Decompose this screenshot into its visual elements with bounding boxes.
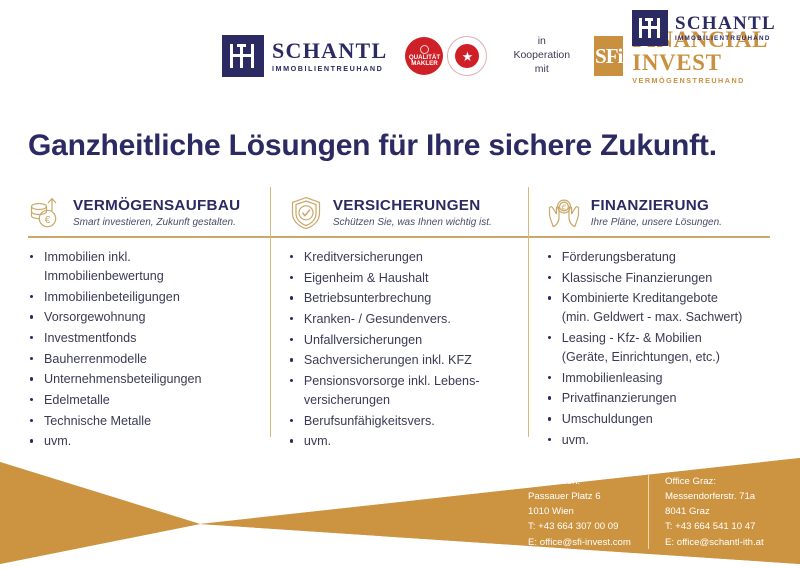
cooperation-line-3: mit xyxy=(513,63,570,77)
ith-monogram-icon xyxy=(222,35,264,77)
office-street: Passauer Platz 6 xyxy=(528,489,648,504)
list-item-text: Privatfinanzierungen xyxy=(562,391,677,405)
list-item-text: Berufsunfähigkeitsvers. xyxy=(304,414,435,428)
list-item-text: Klassische Finanzierungen xyxy=(562,271,713,285)
list-item: Förderungsberatung xyxy=(546,248,772,267)
service-columns: € VERMÖGENSAUFBAU Smart investieren, Zuk… xyxy=(28,190,772,236)
list-item: Kranken- / Gesundenvers. xyxy=(288,310,528,329)
office-city: 1010 Wien xyxy=(528,504,648,519)
list-item: Kreditversicherungen xyxy=(288,248,528,267)
column-finanzierung: € FINANZIERUNG Ihre Pläne, unsere Lösung… xyxy=(528,190,772,236)
cooperation-note: in Kooperation mit xyxy=(513,35,570,77)
list-item: Privatfinanzierungen xyxy=(546,389,772,408)
column-divider xyxy=(528,187,529,437)
office-phone[interactable]: T: +43 664 307 00 09 xyxy=(528,519,648,534)
list-item: Eigenheim & Haushalt xyxy=(288,269,528,288)
list-item-continuation: (Geräte, Einrichtungen, etc.) xyxy=(562,348,772,367)
list-item-text: Immobilienleasing xyxy=(562,371,663,385)
svg-text:€: € xyxy=(45,214,51,226)
list-item-text: Betriebsunterbrechung xyxy=(304,291,431,305)
list-item: Leasing - Kfz- & Mobilien(Geräte, Einric… xyxy=(546,329,772,367)
list-item: Investmentfonds xyxy=(28,329,270,348)
list-item-text: Bauherrenmodelle xyxy=(44,352,147,366)
office-name: Office Graz: xyxy=(665,474,785,489)
office-email[interactable]: E: office@schantl-ith.at xyxy=(665,535,785,550)
list-item: Umschuldungen xyxy=(546,410,772,429)
list-item-text: Kombinierte Kreditangebote xyxy=(562,291,718,305)
shield-check-icon xyxy=(288,195,324,231)
service-list-finanzierung: Förderungsberatung Klassische Finanzieru… xyxy=(546,248,772,451)
list-item-text: Technische Metalle xyxy=(44,414,151,428)
service-list-versicherungen: Kreditversicherungen Eigenheim & Haushal… xyxy=(288,248,528,453)
schantl-wordmark: SCHANTL xyxy=(272,40,387,62)
list-item: Unfallversicherungen xyxy=(288,331,528,350)
schantl-ith-logo: SCHANTL IMMOBILIENTREUHAND xyxy=(222,35,387,77)
office-phone[interactable]: T: +43 664 541 10 47 xyxy=(665,519,785,534)
footer-contact-blocks: Office Wien: Passauer Platz 6 1010 Wien … xyxy=(528,474,785,550)
list-item-text: Umschuldungen xyxy=(562,412,653,426)
list-item-text: Immobilienbeteiligungen xyxy=(44,290,180,304)
list-item-text: Kranken- / Gesundenvers. xyxy=(304,312,451,326)
list-item: Berufsunfähigkeitsvers. xyxy=(288,412,528,431)
page-title: Ganzheitliche Lösungen für Ihre sichere … xyxy=(28,129,717,163)
list-item: Vorsorgewohnung xyxy=(28,308,270,327)
gold-horizontal-rule xyxy=(28,236,770,238)
office-street: Messendorferstr. 71a xyxy=(665,489,785,504)
list-item-text: Leasing - Kfz- & Mobilien xyxy=(562,331,702,345)
corner-ith-monogram-icon xyxy=(632,10,668,46)
list-item: Betriebsunterbrechung xyxy=(288,289,528,308)
list-item-text: Pensionsvorsorge inkl. Lebens- xyxy=(304,374,480,388)
list-item: Unternehmensbeteiligungen xyxy=(28,370,270,389)
poster-root: SCHANTL IMMOBILIENTREUHAND QUALITÄTMAKLE… xyxy=(0,0,800,564)
column-tagline: Smart investieren, Zukunft gestalten. xyxy=(73,217,240,228)
list-item: Technische Metalle xyxy=(28,412,270,431)
corner-schantl-wordmark: SCHANTL xyxy=(675,14,776,33)
column-header: € FINANZIERUNG Ihre Pläne, unsere Lösung… xyxy=(546,190,772,236)
office-city: 8041 Graz xyxy=(665,504,785,519)
cooperation-line-1: in xyxy=(513,35,570,49)
list-item-text: Kreditversicherungen xyxy=(304,250,423,264)
corner-schantl-tagline: IMMOBILIENTREUHAND xyxy=(675,36,776,42)
list-item: Sachversicherungen inkl. KFZ xyxy=(288,351,528,370)
hands-holding-coin-icon: € xyxy=(546,195,582,231)
column-title: VERSICHERUNGEN xyxy=(333,198,492,215)
list-item: Pensionsvorsorge inkl. Lebens-versicheru… xyxy=(288,372,528,410)
list-item-text: Förderungsberatung xyxy=(562,250,676,264)
list-item-text: Eigenheim & Haushalt xyxy=(304,271,429,285)
list-item-continuation: versicherungen xyxy=(304,391,528,410)
corner-schantl-ith-logo: SCHANTL IMMOBILIENTREUHAND xyxy=(632,10,776,46)
column-tagline: Schützen Sie, was Ihnen wichtig ist. xyxy=(333,217,492,228)
coins-growth-euro-icon: € xyxy=(28,195,64,231)
list-item-text: Edelmetalle xyxy=(44,393,110,407)
office-name: Office Wien: xyxy=(528,474,648,489)
list-item-continuation: (min. Geldwert - max. Sachwert) xyxy=(562,308,772,327)
list-item-continuation: Immobilienbewertung xyxy=(44,267,270,286)
financial-invest-tagline: VERMÖGENSTREUHAND xyxy=(632,77,800,84)
office-wien-block: Office Wien: Passauer Platz 6 1010 Wien … xyxy=(528,474,648,550)
list-item-text: Sachversicherungen inkl. KFZ xyxy=(304,353,472,367)
schantl-tagline: IMMOBILIENTREUHAND xyxy=(272,65,387,72)
service-list-vermoegensaufbau: Immobilien inkl.Immobilienbewertung Immo… xyxy=(28,248,270,453)
list-item-text: Immobilien inkl. xyxy=(44,250,131,264)
list-item: Kombinierte Kreditangebote(min. Geldwert… xyxy=(546,289,772,327)
column-vermoegensaufbau: € VERMÖGENSAUFBAU Smart investieren, Zuk… xyxy=(28,190,270,236)
column-header: € VERMÖGENSAUFBAU Smart investieren, Zuk… xyxy=(28,190,270,236)
sfi-monogram-icon: SFi xyxy=(594,36,623,76)
cooperation-line-2: Kooperation xyxy=(513,49,570,63)
column-title: VERMÖGENSAUFBAU xyxy=(73,198,240,215)
list-item: Klassische Finanzierungen xyxy=(546,269,772,288)
office-graz-block: Office Graz: Messendorferstr. 71a 8041 G… xyxy=(649,474,785,550)
column-tagline: Ihre Pläne, unsere Lösungen. xyxy=(591,217,722,228)
list-item: Immobilien inkl.Immobilienbewertung xyxy=(28,248,270,286)
list-item: Bauherrenmodelle xyxy=(28,350,270,369)
list-item: Edelmetalle xyxy=(28,391,270,410)
certification-seals: QUALITÄTMAKLER ★ xyxy=(405,36,487,76)
list-item-text: Vorsorgewohnung xyxy=(44,310,146,324)
header-logo-bar: SCHANTL IMMOBILIENTREUHAND QUALITÄTMAKLE… xyxy=(0,0,800,100)
list-item: Immobilienleasing xyxy=(546,369,772,388)
column-title: FINANZIERUNG xyxy=(591,198,722,215)
column-header: VERSICHERUNGEN Schützen Sie, was Ihnen w… xyxy=(288,190,528,236)
office-email[interactable]: E: office@sfi-invest.com xyxy=(528,535,648,550)
svg-text:€: € xyxy=(561,202,566,212)
qualitaets-makler-seal-icon: QUALITÄTMAKLER xyxy=(405,37,443,75)
list-item: Immobilienbeteiligungen xyxy=(28,288,270,307)
list-item-text: Unternehmensbeteiligungen xyxy=(44,372,202,386)
oesterreich-guetesiegel-seal-icon: ★ xyxy=(447,36,487,76)
list-item-text: Unfallversicherungen xyxy=(304,333,422,347)
list-item-text: Investmentfonds xyxy=(44,331,136,345)
column-divider xyxy=(270,187,271,437)
column-versicherungen: VERSICHERUNGEN Schützen Sie, was Ihnen w… xyxy=(270,190,528,236)
